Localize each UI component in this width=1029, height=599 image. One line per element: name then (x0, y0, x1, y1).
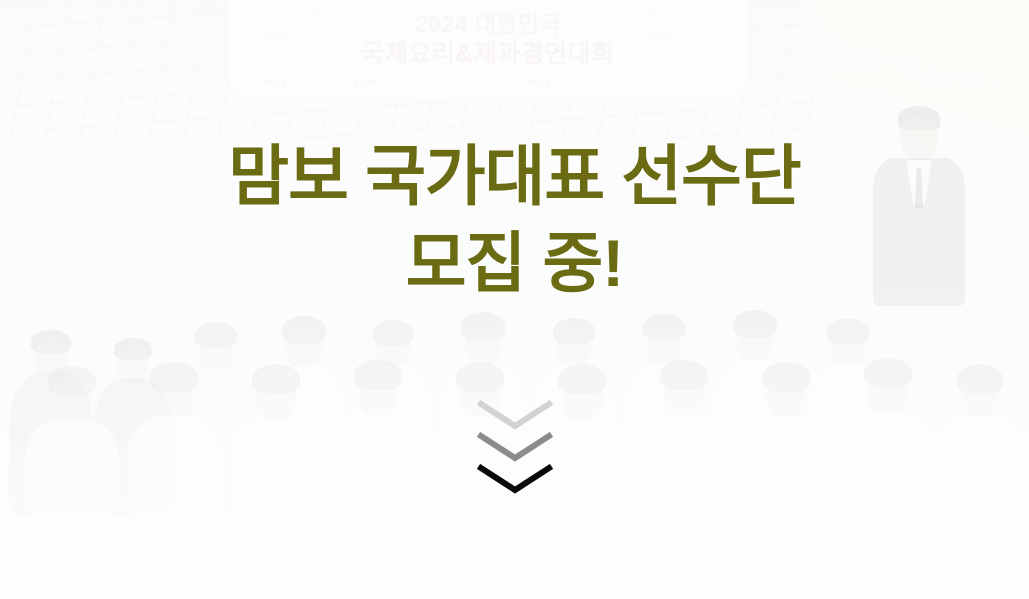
headline-line-2: 모집 중! (0, 220, 1029, 307)
chevron-down-icon[interactable] (475, 460, 555, 498)
hero-content: 맘보 국가대표 선수단 모집 중! (0, 0, 1029, 599)
scroll-down-indicator[interactable] (455, 396, 575, 506)
hero-banner: 2024 대한민국 국제요리&제과경연대회 KCTV KCTV KCTV KCT… (0, 0, 1029, 599)
page-title: 맘보 국가대표 선수단 모집 중! (0, 133, 1029, 307)
headline-line-1: 맘보 국가대표 선수단 (0, 133, 1029, 220)
